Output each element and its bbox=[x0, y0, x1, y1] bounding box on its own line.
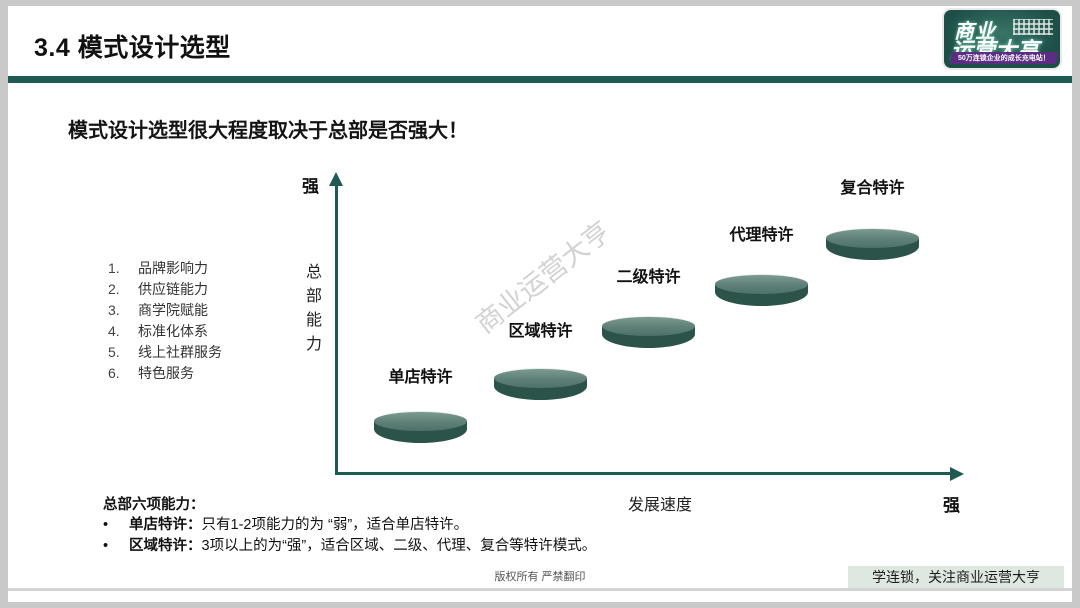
data-point-label-text: 复合特许 bbox=[826, 179, 919, 199]
footnote-text: 只有1-2项能力的为 “弱”，适合单店特许。 bbox=[202, 515, 469, 536]
data-point-marker bbox=[602, 316, 695, 348]
disc-top bbox=[826, 228, 919, 248]
disc-top bbox=[602, 316, 695, 336]
x-axis-arrow-icon bbox=[950, 467, 964, 481]
data-point-label: 单店特许 bbox=[374, 368, 467, 388]
x-axis-end-label: 强 bbox=[943, 491, 960, 516]
data-point-label: 代理特许 bbox=[715, 226, 808, 246]
slide-canvas: 3.4 模式设计选型 商业 运营大亨 50万连锁企业的成长充电站！ 模式设计选型… bbox=[8, 6, 1072, 602]
data-point-marker bbox=[715, 274, 808, 306]
disc-top bbox=[715, 274, 808, 294]
footnotes: 总部六项能力： • 单店特许： 只有1-2项能力的为 “弱”，适合单店特许。 •… bbox=[103, 495, 596, 557]
x-axis-title: 发展速度 bbox=[628, 491, 692, 515]
footnote-row: • 单店特许： 只有1-2项能力的为 “弱”，适合单店特许。 bbox=[103, 515, 596, 536]
data-point-label: 区域特许 bbox=[494, 322, 587, 342]
data-point-label-text: 代理特许 bbox=[715, 226, 808, 246]
footnote-key: 单店特许： bbox=[129, 515, 202, 536]
data-point-marker bbox=[826, 228, 919, 260]
y-axis-top-label: 强 bbox=[302, 172, 319, 197]
disc-top bbox=[494, 368, 587, 388]
promo-banner: 学连锁，关注商业运营大亨 bbox=[848, 566, 1064, 588]
data-point-marker bbox=[494, 368, 587, 400]
footnote-text: 3项以上的为“强”，适合区域、二级、代理、复合等特许模式。 bbox=[202, 536, 597, 557]
footnote-row: • 区域特许： 3项以上的为“强”，适合区域、二级、代理、复合等特许模式。 bbox=[103, 536, 596, 557]
y-axis-title: 总部能力 bbox=[305, 261, 323, 357]
disc-top bbox=[374, 411, 467, 431]
footer-divider bbox=[8, 588, 1072, 591]
data-point-label-text: 单店特许 bbox=[374, 368, 467, 388]
data-point-label-text: 区域特许 bbox=[494, 322, 587, 342]
bullet-icon: • bbox=[103, 536, 129, 557]
bullet-icon: • bbox=[103, 515, 129, 536]
data-point-marker bbox=[374, 411, 467, 443]
x-axis-line bbox=[335, 472, 955, 475]
y-axis-arrow-icon bbox=[329, 172, 343, 186]
footnote-key: 区域特许： bbox=[129, 536, 202, 557]
data-point-label: 复合特许 bbox=[826, 179, 919, 199]
footnotes-heading: 总部六项能力： bbox=[103, 495, 596, 515]
promo-banner-text: 学连锁，关注商业运营大亨 bbox=[872, 567, 1040, 587]
data-point-label-text: 二级特许 bbox=[602, 268, 695, 288]
y-axis-line bbox=[335, 184, 338, 474]
data-point-label: 二级特许 bbox=[602, 268, 695, 288]
